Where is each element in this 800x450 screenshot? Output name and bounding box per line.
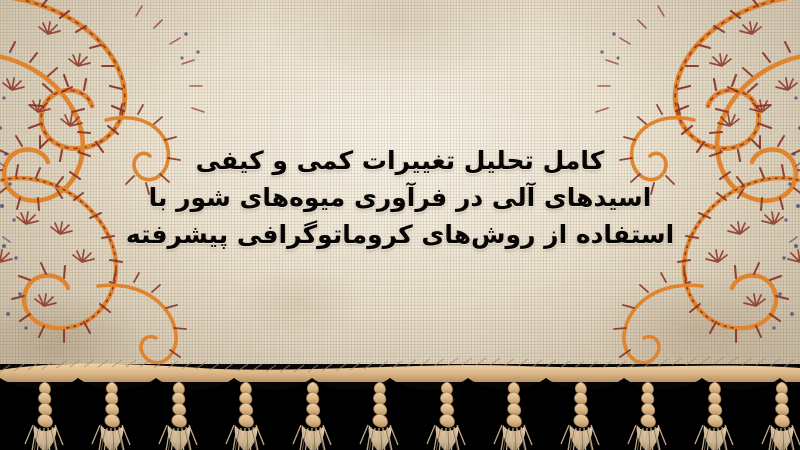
title-block: کامل تحلیل تغییرات کمی و کیفی اسیدهای آل… <box>0 148 800 247</box>
title-line-2: اسیدهای آلی در فرآوری میوه‌های شور با <box>0 185 800 210</box>
title-line-3: استفاده از روش‌های کروماتوگرافی پیشرفته <box>0 222 800 247</box>
title-card: کامل تحلیل تغییرات کمی و کیفی اسیدهای آل… <box>0 0 800 450</box>
tassel-fringe <box>0 352 800 450</box>
title-line-1: کامل تحلیل تغییرات کمی و کیفی <box>0 148 800 173</box>
